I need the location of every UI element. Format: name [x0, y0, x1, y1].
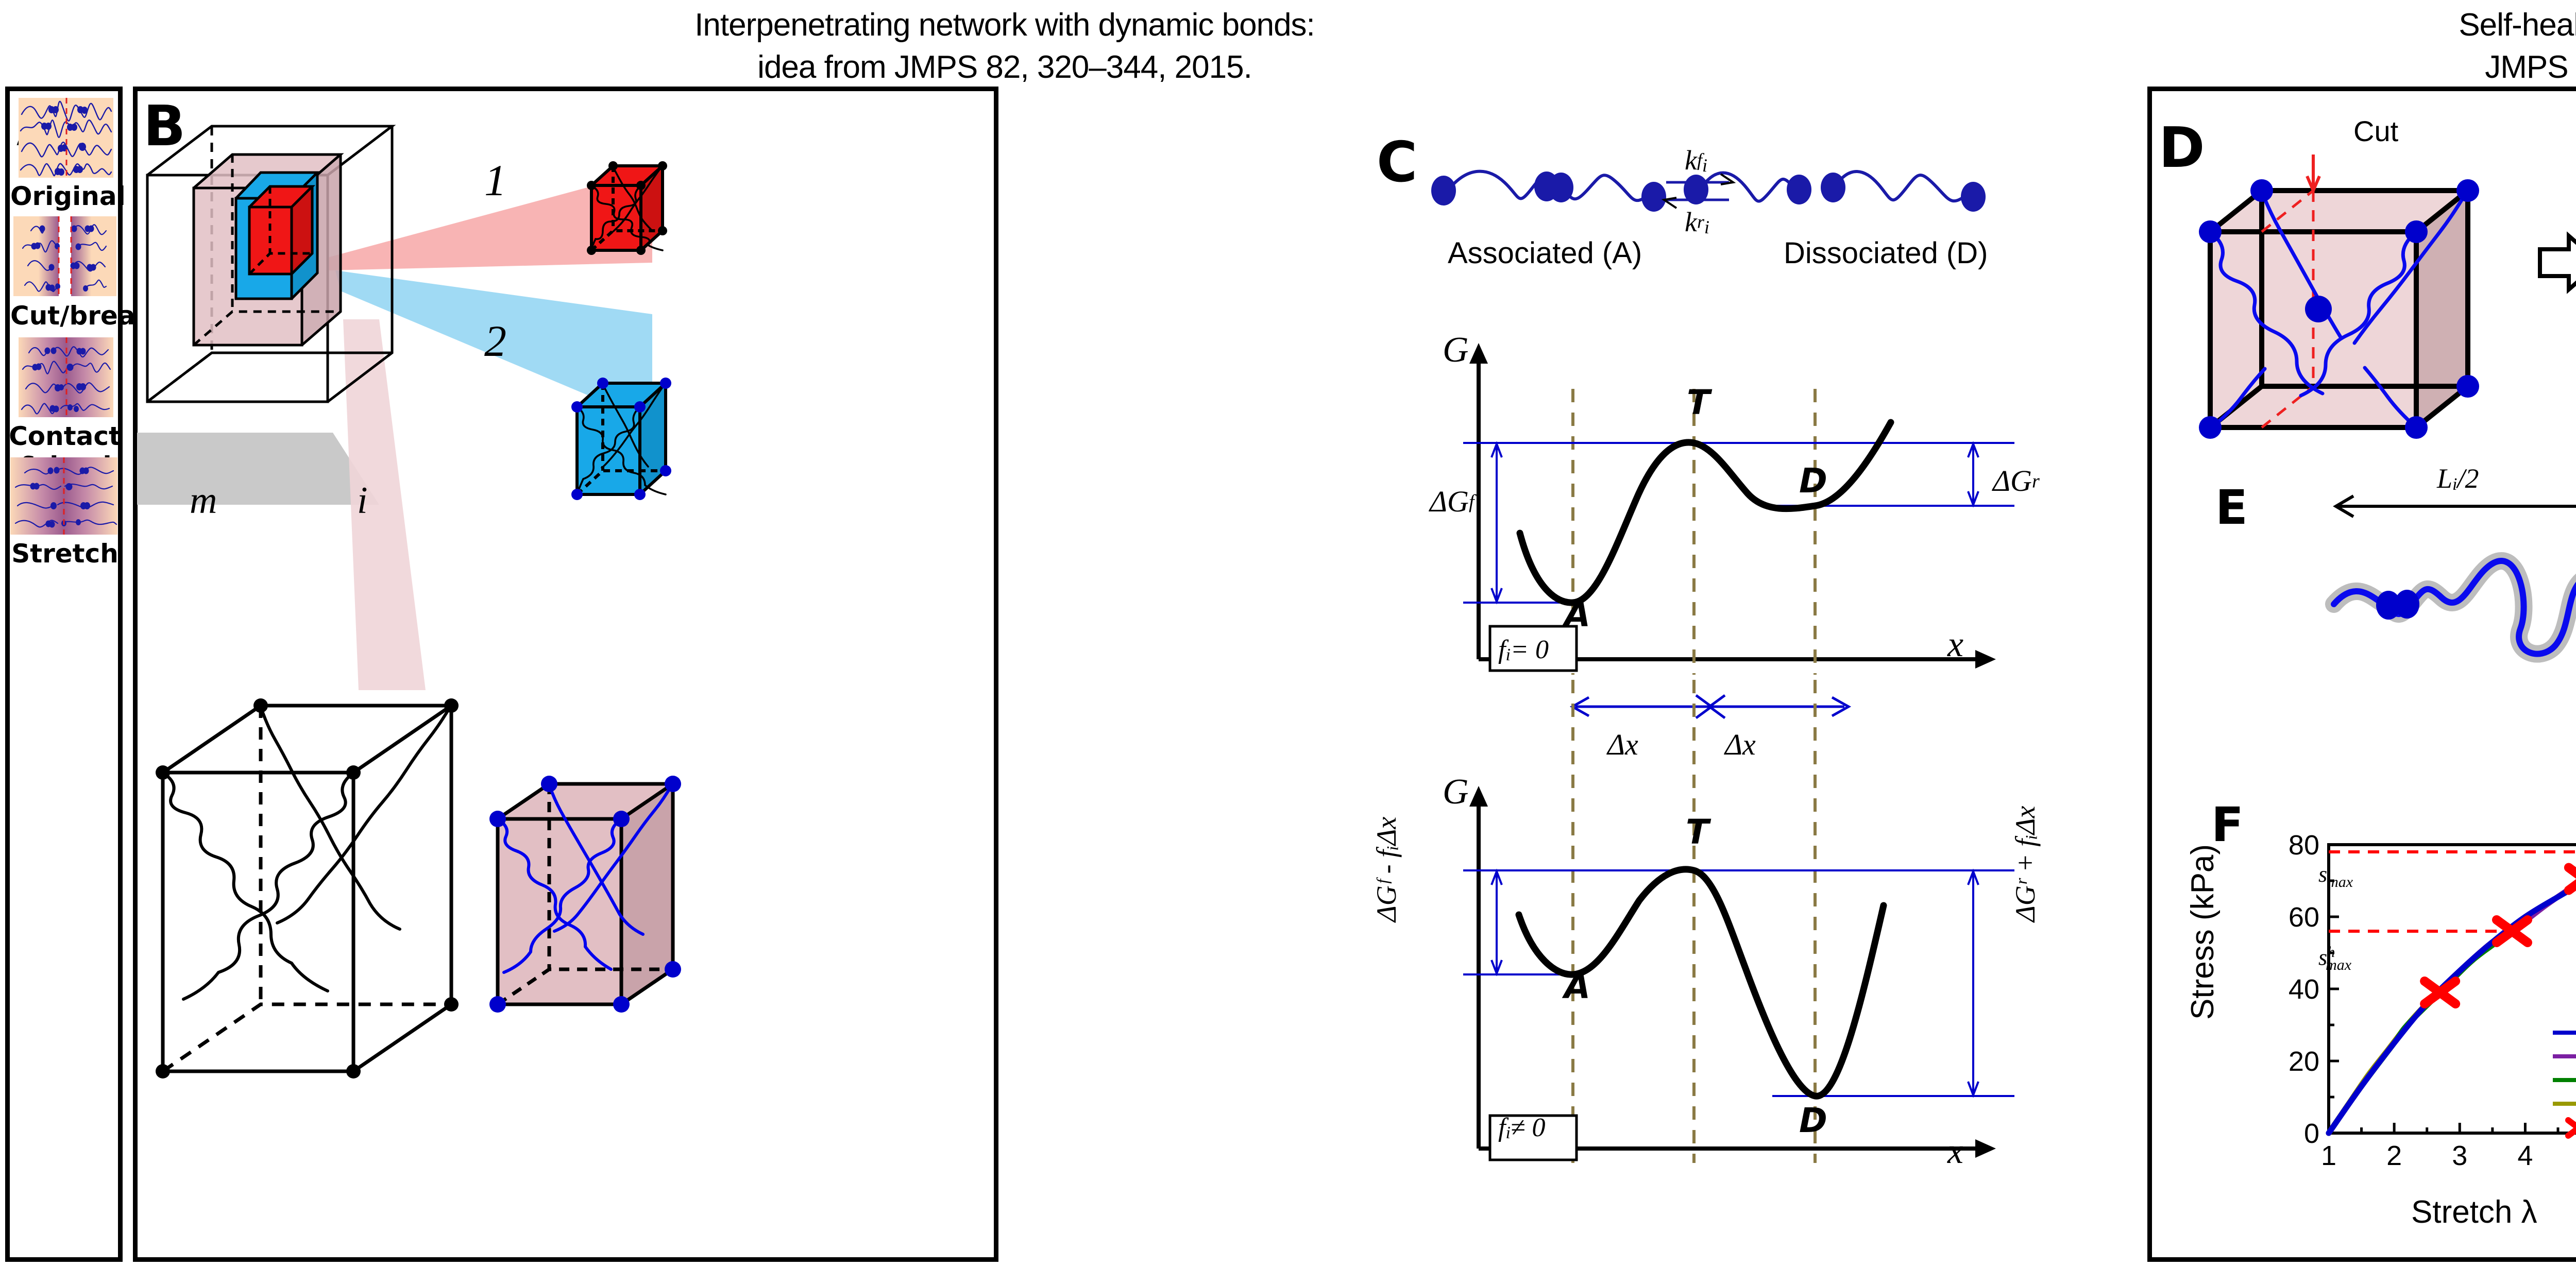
- svg-text:20: 20: [2289, 1046, 2319, 1077]
- svg-text:60: 60: [2289, 902, 2319, 933]
- panel-c-dG-reverse: ΔGr: [1993, 464, 2040, 498]
- panel-a-caption-original: Original: [10, 181, 120, 211]
- right-title-line2: JMPS 121, 409-431, 2018.: [2231, 46, 2576, 89]
- force-nonzero-f: f: [1498, 1113, 1505, 1142]
- dG-r-sup: r: [2032, 471, 2040, 492]
- right-title-line1: Self-healing mechanics model:: [2231, 4, 2576, 46]
- panel-e-label: E: [2215, 484, 2248, 532]
- panel-f-ylabel-text: Stress (kPa): [2185, 844, 2221, 1020]
- flegend-item-2: 3 h: [2553, 1068, 2576, 1092]
- len-left-sub: i: [2452, 475, 2457, 494]
- force-zero-f: f: [1498, 635, 1505, 664]
- flegend-swatch-3h: [2553, 1078, 2576, 1082]
- flegend-item-3: 1.5 h: [2553, 1092, 2576, 1116]
- rate-forward-sub: i: [1702, 155, 1707, 176]
- flegend-swatch-critical-icon: [2553, 1125, 2576, 1129]
- panel-c-dG-reverse-loaded: ΔGʳ + fᵢΔx: [2009, 806, 2041, 922]
- dG-f-text: ΔG: [1430, 485, 1469, 518]
- force-nonzero-val: ≠ 0: [1511, 1113, 1546, 1142]
- panel-c-deltax-left: Δx: [1607, 727, 1638, 762]
- figure-root: Interpenetrating network with dynamic bo…: [0, 0, 2576, 1267]
- panel-a-stage-original: [19, 98, 113, 188]
- panel-c-chain-schematic: [1412, 139, 2040, 227]
- svg-text:D: D: [1799, 461, 1827, 501]
- panel-b-label-i: i: [357, 479, 368, 523]
- panel-c-axis-x-top: x: [1947, 624, 1963, 665]
- panel-e-length-left: Li/2: [2437, 463, 2479, 494]
- len-left-div: /2: [2458, 463, 2479, 494]
- panel-c-force-zero: fi= 0: [1498, 635, 1549, 665]
- panel-c-axis-y-top: G: [1443, 330, 1469, 371]
- panel-c-rate-forward: kfi: [1685, 144, 1707, 176]
- rate-reverse-k: k: [1685, 207, 1697, 237]
- len-left-L: L: [2437, 463, 2452, 494]
- svg-text:D: D: [1799, 1101, 1827, 1140]
- svg-text:T: T: [1686, 812, 1711, 852]
- panel-b-callout-1: 1: [484, 155, 506, 206]
- svg-text:A: A: [1562, 967, 1590, 1006]
- dx-left-text: Δx: [1607, 728, 1638, 761]
- panel-f-xlabel-text: Stretch λ: [2411, 1194, 2537, 1230]
- rate-reverse-sup: r: [1697, 212, 1704, 232]
- panel-c-force-nonzero: fi≠ 0: [1498, 1112, 1545, 1143]
- panel-c-energy-plot-unloaded: A T D: [1412, 319, 2020, 680]
- svg-text:0: 0: [2304, 1118, 2319, 1149]
- svg-text:T: T: [1687, 383, 1713, 422]
- panel-c-deltax-arrows: [1566, 689, 1855, 725]
- panel-d-graphic: [2179, 108, 2576, 448]
- dx-right-text: Δx: [1725, 728, 1756, 761]
- panel-a-caption-stretch: Stretch: [10, 539, 120, 569]
- rate-forward-sup: f: [1697, 150, 1702, 170]
- panel-b-graphic: [137, 93, 693, 690]
- dG-f-sup: f: [1469, 491, 1475, 513]
- svg-text:3: 3: [2452, 1140, 2467, 1171]
- panel-c-axis-x-bottom: x: [1947, 1131, 1963, 1172]
- rate-forward-k: k: [1685, 145, 1697, 176]
- svg-text:80: 80: [2289, 830, 2319, 861]
- svg-text:1: 1: [2321, 1140, 2336, 1171]
- panel-b-label-m: m: [190, 479, 217, 523]
- force-zero-val: = 0: [1511, 635, 1549, 664]
- panel-a-stage-heal: [19, 337, 113, 427]
- panel-c-axis-y-bottom: G: [1443, 772, 1469, 813]
- panel-a-stage-stretch: [10, 457, 117, 547]
- svg-text:4: 4: [2517, 1140, 2533, 1171]
- right-title: Self-healing mechanics model: JMPS 121, …: [2231, 4, 2576, 89]
- panel-b-bottom-cubes: [137, 670, 745, 1236]
- svg-text:2: 2: [2386, 1140, 2402, 1171]
- left-title-line2: idea from JMPS 82, 320–344, 2015.: [562, 46, 1448, 89]
- panel-f-label: F: [2211, 801, 2244, 849]
- panel-f-xlabel: Stretch λ: [2411, 1194, 2537, 1230]
- panel-f-smax-healed-label: shmax: [2318, 944, 2351, 974]
- panel-d-cut-label: Cut: [2353, 114, 2398, 148]
- panel-c-dG-forward: ΔGf: [1430, 484, 1475, 519]
- panel-e-graphic: [2287, 466, 2576, 708]
- panel-c-deltax-right: Δx: [1725, 727, 1756, 762]
- flegend-item-4: Critical point: [2553, 1116, 2576, 1139]
- force-zero-sub: i: [1505, 645, 1510, 664]
- flegend-swatch-15h: [2553, 1102, 2576, 1106]
- flegend-swatch-original: [2553, 1031, 2576, 1035]
- panel-c-rate-reverse: kri: [1685, 206, 1709, 238]
- flegend-swatch-65h: [2553, 1054, 2576, 1058]
- panel-b-callout-2: 2: [484, 315, 506, 367]
- panel-f-legend: Orginal 6.5 h 3 h 1.5 h Critical point: [2553, 1021, 2576, 1139]
- rate-reverse-sub: i: [1704, 217, 1709, 237]
- panel-c-state-associated: Associated (A): [1448, 236, 1642, 270]
- left-title: Interpenetrating network with dynamic bo…: [562, 4, 1448, 89]
- panel-a-stage-cut: [13, 216, 116, 306]
- panel-c-dG-forward-loaded: ΔGᶠ - fᵢΔx: [1370, 817, 1402, 922]
- flegend-item-1: 6.5 h: [2553, 1045, 2576, 1068]
- force-nonzero-sub: i: [1505, 1123, 1510, 1142]
- svg-text:40: 40: [2289, 974, 2319, 1005]
- panel-f-ylabel: Stress (kPa): [2184, 844, 2221, 1020]
- flegend-item-0: Orginal: [2553, 1021, 2576, 1045]
- panel-a-caption-cut: Cut/break: [10, 301, 120, 331]
- panel-f-chart: 12345678020406080: [2267, 824, 2576, 1195]
- left-title-line1: Interpenetrating network with dynamic bo…: [562, 4, 1448, 46]
- dG-r-text: ΔG: [1993, 464, 2032, 498]
- panel-f-smax-label: smax: [2318, 861, 2353, 891]
- panel-c-state-dissociated: Dissociated (D): [1784, 236, 1988, 270]
